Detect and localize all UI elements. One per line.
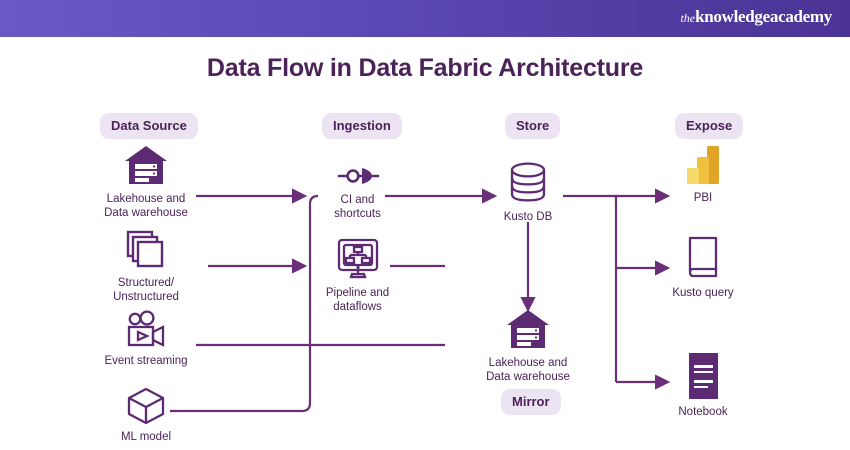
node-ml-model: ML model: [86, 386, 206, 444]
node-notebook: Notebook: [645, 351, 761, 419]
column-header-store: Store: [505, 113, 560, 139]
node-label: Structured/ Unstructured: [86, 276, 206, 304]
database-cylinder-icon: [470, 160, 586, 206]
column-header-data-source: Data Source: [100, 113, 198, 139]
notebook-icon: [645, 351, 761, 401]
lakehouse-icon: [470, 308, 586, 352]
column-header-expose: Expose: [675, 113, 743, 139]
node-label: Kusto DB: [470, 210, 586, 224]
node-label: CI and shortcuts: [300, 193, 415, 221]
node-kusto-query: Kusto query: [645, 234, 761, 300]
video-camera-icon: [86, 310, 206, 350]
node-pbi: PBI: [645, 143, 761, 205]
power-bi-icon: [645, 143, 761, 187]
node-label: ML model: [86, 430, 206, 444]
node-event-streaming: Event streaming: [86, 310, 206, 368]
node-lakehouse-source: Lakehouse and Data warehouse: [86, 144, 206, 220]
node-label: Notebook: [645, 405, 761, 419]
node-label: Lakehouse and Data warehouse: [86, 192, 206, 220]
node-ci-shortcuts: CI and shortcuts: [300, 163, 415, 221]
node-label: Pipeline and dataflows: [300, 286, 415, 314]
node-label: Kusto query: [645, 286, 761, 300]
lakehouse-icon: [86, 144, 206, 188]
node-label: PBI: [645, 191, 761, 205]
node-pipeline-dataflows: Pipeline and dataflows: [300, 236, 415, 314]
cube-icon: [86, 386, 206, 426]
node-kusto-db: Kusto DB: [470, 160, 586, 224]
node-structured-unstructured: Structured/ Unstructured: [86, 228, 206, 304]
node-lakehouse-store: Lakehouse and Data warehouse: [470, 308, 586, 384]
column-header-ingestion: Ingestion: [322, 113, 402, 139]
documents-stack-icon: [86, 228, 206, 272]
mirror-badge: Mirror: [501, 389, 561, 415]
node-label: Lakehouse and Data warehouse: [470, 356, 586, 384]
monitor-flowchart-icon: [300, 236, 415, 282]
node-label: Event streaming: [86, 354, 206, 368]
shortcut-link-icon: [300, 163, 415, 189]
book-icon: [645, 234, 761, 282]
